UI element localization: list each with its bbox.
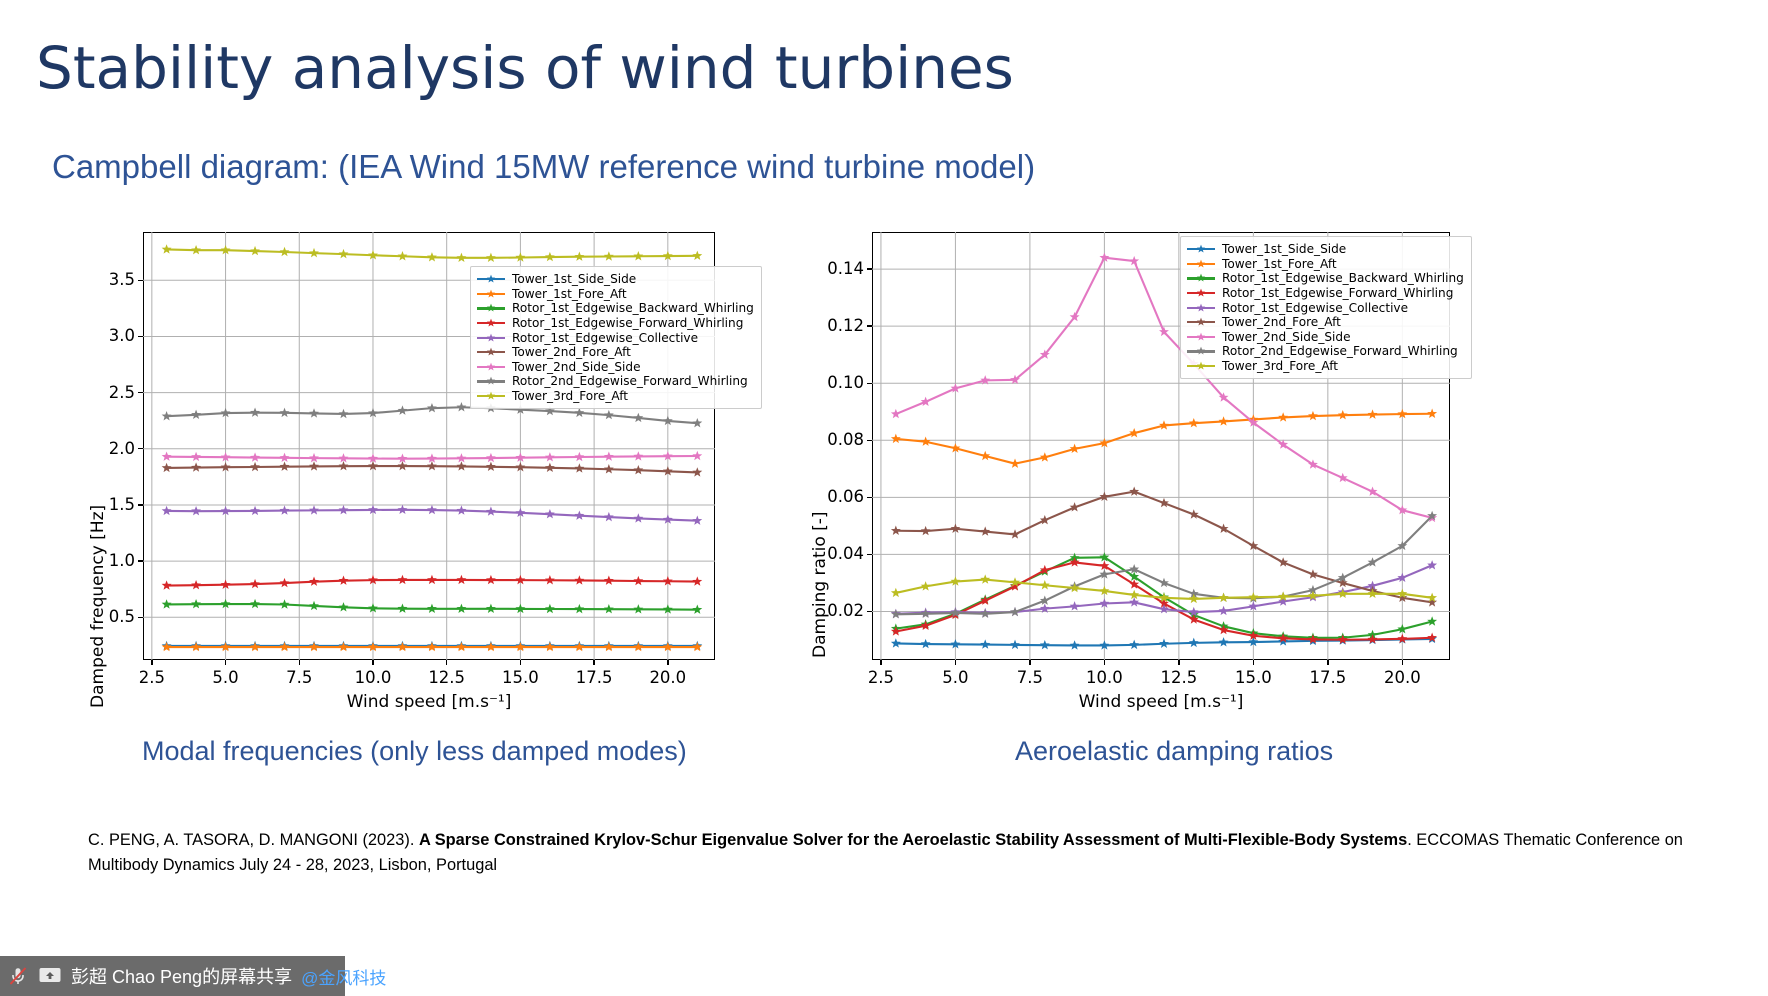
legend-swatch-icon bbox=[1187, 243, 1215, 255]
series-marker bbox=[456, 604, 466, 613]
series-marker bbox=[1219, 416, 1229, 425]
series-marker bbox=[604, 251, 614, 260]
series-marker bbox=[545, 575, 555, 584]
legend-label: Rotor_1st_Edgewise_Forward_Whirling bbox=[512, 316, 743, 330]
figure-aeroelastic-damping: Damping ratio [-] Wind speed [m.s⁻¹] Tow… bbox=[800, 228, 1490, 718]
series-marker bbox=[692, 251, 702, 260]
series-marker bbox=[162, 411, 172, 420]
legend-item[interactable]: Rotor_1st_Edgewise_Backward_Whirling bbox=[477, 301, 754, 316]
figure-0-xtick-mark bbox=[446, 660, 447, 665]
series-marker bbox=[280, 453, 290, 462]
series-marker bbox=[604, 464, 614, 473]
page-title: Stability analysis of wind turbines bbox=[36, 34, 1014, 102]
series-marker bbox=[398, 575, 408, 584]
legend-label: Tower_1st_Fore_Aft bbox=[512, 287, 627, 301]
series-marker bbox=[980, 526, 990, 535]
series-marker bbox=[891, 609, 901, 618]
series-marker bbox=[1070, 444, 1080, 453]
figure-0-ytick-label: 3.0 bbox=[47, 326, 135, 345]
figure-0-xtick-label: 20.0 bbox=[628, 668, 708, 687]
series-marker bbox=[1010, 458, 1020, 467]
legend-label: Rotor_2nd_Edgewise_Forward_Whirling bbox=[1222, 344, 1458, 358]
series-marker bbox=[486, 253, 496, 262]
legend-swatch-icon bbox=[477, 288, 505, 300]
series-marker bbox=[921, 609, 931, 618]
series-marker bbox=[309, 505, 319, 514]
legend-item[interactable]: Rotor_1st_Edgewise_Backward_Whirling bbox=[1187, 271, 1464, 286]
series-marker bbox=[427, 505, 437, 514]
series-marker bbox=[250, 407, 260, 416]
series-marker bbox=[1070, 502, 1080, 511]
series-marker bbox=[633, 513, 643, 522]
series-marker bbox=[633, 642, 643, 651]
series-marker bbox=[250, 599, 260, 608]
series-marker bbox=[1129, 428, 1139, 437]
figure-0-xtick-mark bbox=[372, 660, 373, 665]
series-marker bbox=[456, 453, 466, 462]
series-marker bbox=[545, 509, 555, 518]
legend-label: Tower_1st_Side_Side bbox=[512, 272, 636, 286]
series-marker bbox=[162, 599, 172, 608]
series-marker bbox=[398, 642, 408, 651]
series-marker bbox=[280, 408, 290, 417]
series-marker bbox=[1129, 597, 1139, 606]
series-marker bbox=[456, 253, 466, 262]
series-marker bbox=[191, 580, 201, 589]
series-marker bbox=[309, 248, 319, 257]
figure-0-xtick-label: 2.5 bbox=[112, 668, 192, 687]
series-marker bbox=[280, 461, 290, 470]
figure-0-xtick-label: 15.0 bbox=[480, 668, 560, 687]
series-marker bbox=[980, 451, 990, 460]
series-marker bbox=[280, 599, 290, 608]
series-marker bbox=[692, 642, 702, 651]
series-marker bbox=[633, 251, 643, 260]
figure-modal-frequencies: Damped frequency [Hz] Wind speed [m.s⁻¹]… bbox=[70, 228, 750, 718]
figure-1-xtick-label: 15.0 bbox=[1213, 668, 1293, 687]
series-marker bbox=[574, 604, 584, 613]
series-marker bbox=[1278, 557, 1288, 566]
reference-title: A Sparse Constrained Krylov-Schur Eigenv… bbox=[419, 831, 1407, 849]
figure-1-ytick-label: 0.14 bbox=[776, 259, 864, 278]
series-marker bbox=[1159, 578, 1169, 587]
reference-authors: C. PENG, A. TASORA, D. MANGONI (2023). bbox=[88, 831, 419, 849]
series-marker bbox=[891, 526, 901, 535]
series-marker bbox=[1338, 473, 1348, 482]
series-marker bbox=[280, 578, 290, 587]
series-marker bbox=[921, 526, 931, 535]
series-marker bbox=[980, 609, 990, 618]
series-marker bbox=[339, 642, 349, 651]
series-marker bbox=[191, 410, 201, 419]
legend-label: Rotor_1st_Edgewise_Backward_Whirling bbox=[1222, 271, 1464, 285]
series-marker bbox=[1040, 452, 1050, 461]
series-marker bbox=[339, 602, 349, 611]
series-marker bbox=[574, 252, 584, 261]
series-marker bbox=[398, 603, 408, 612]
figure-1-ytick-label: 0.12 bbox=[776, 316, 864, 335]
series-marker bbox=[574, 642, 584, 651]
legend-item[interactable]: Tower_2nd_Side_Side bbox=[477, 360, 754, 375]
series-marker bbox=[1159, 639, 1169, 648]
series-marker bbox=[191, 506, 201, 515]
series-marker bbox=[486, 506, 496, 515]
caption-left: Modal frequencies (only less damped mode… bbox=[142, 736, 687, 767]
series-marker bbox=[486, 453, 496, 462]
subtitle-rest-part: (IEA Wind 15MW reference wind turbine mo… bbox=[329, 148, 1035, 185]
figure-1-xtick-label: 5.0 bbox=[915, 668, 995, 687]
series-marker bbox=[1308, 411, 1318, 420]
series-marker bbox=[1278, 412, 1288, 421]
slide-root: Stability analysis of wind turbines Camp… bbox=[0, 0, 1768, 996]
series-marker bbox=[1129, 640, 1139, 649]
legend-label: Tower_2nd_Side_Side bbox=[1222, 330, 1351, 344]
series-marker bbox=[1010, 640, 1020, 649]
legend-item[interactable]: Tower_1st_Fore_Aft bbox=[1187, 257, 1464, 272]
figure-1-legend: Tower_1st_Side_SideTower_1st_Fore_AftRot… bbox=[1180, 236, 1472, 379]
series-marker bbox=[250, 506, 260, 515]
legend-swatch-icon bbox=[1187, 287, 1215, 299]
series-marker bbox=[545, 604, 555, 613]
series-marker bbox=[574, 510, 584, 519]
series-marker bbox=[921, 621, 931, 630]
series-marker bbox=[604, 451, 614, 460]
legend-label: Tower_2nd_Fore_Aft bbox=[1222, 315, 1341, 329]
figure-0-ytick-label: 1.5 bbox=[47, 495, 135, 514]
series-marker bbox=[250, 462, 260, 471]
series-marker bbox=[162, 506, 172, 515]
series-marker bbox=[1427, 560, 1437, 569]
figure-1-xtick-label: 2.5 bbox=[841, 668, 921, 687]
series-marker bbox=[1308, 459, 1318, 468]
series-marker bbox=[339, 505, 349, 514]
figure-1-xtick-mark bbox=[880, 660, 881, 665]
figure-1-ytick-label: 0.06 bbox=[776, 487, 864, 506]
figure-1-ytick-mark bbox=[867, 554, 872, 555]
series-marker bbox=[162, 580, 172, 589]
series-marker bbox=[486, 462, 496, 471]
series-marker bbox=[980, 574, 990, 583]
legend-swatch-icon bbox=[1187, 360, 1215, 372]
figure-1-xtick-label: 12.5 bbox=[1139, 668, 1219, 687]
microphone-muted-icon[interactable] bbox=[7, 965, 29, 987]
series-marker bbox=[1219, 606, 1229, 615]
series-marker bbox=[456, 575, 466, 584]
figure-1-xtick-label: 7.5 bbox=[990, 668, 1070, 687]
series-marker bbox=[456, 642, 466, 651]
slide-subtitle: Campbell diagram: (IEA Wind 15MW referen… bbox=[52, 148, 1035, 186]
screen-share-taskbar[interactable]: 彭超 Chao Peng的屏幕共享 @金风科技 bbox=[0, 956, 345, 996]
legend-label: Tower_2nd_Side_Side bbox=[512, 360, 641, 374]
series-marker bbox=[280, 642, 290, 651]
legend-item[interactable]: Rotor_2nd_Edgewise_Forward_Whirling bbox=[1187, 344, 1464, 359]
subtitle-bold-part: Campbell diagram: bbox=[52, 148, 329, 185]
series-marker bbox=[250, 246, 260, 255]
figure-1-xtick-label: 10.0 bbox=[1064, 668, 1144, 687]
figure-1-ytick-label: 0.10 bbox=[776, 373, 864, 392]
series-marker bbox=[339, 409, 349, 418]
figure-1-xtick-mark bbox=[1104, 660, 1105, 665]
legend-label: Rotor_1st_Edgewise_Collective bbox=[1222, 301, 1408, 315]
series-marker bbox=[980, 639, 990, 648]
caption-right: Aeroelastic damping ratios bbox=[1015, 736, 1333, 767]
figure-0-xtick-mark bbox=[225, 660, 226, 665]
series-marker bbox=[339, 575, 349, 584]
series-marker bbox=[1159, 420, 1169, 429]
series-marker bbox=[309, 408, 319, 417]
series-marker bbox=[456, 461, 466, 470]
figure-0-ytick-mark bbox=[138, 504, 143, 505]
legend-swatch-icon bbox=[477, 390, 505, 402]
series-line bbox=[896, 492, 1432, 603]
legend-label: Tower_1st_Fore_Aft bbox=[1222, 257, 1337, 271]
figure-0-ytick-label: 1.0 bbox=[47, 551, 135, 570]
legend-swatch-icon bbox=[477, 317, 505, 329]
series-marker bbox=[574, 452, 584, 461]
series-marker bbox=[604, 575, 614, 584]
series-marker bbox=[891, 638, 901, 647]
series-marker bbox=[398, 405, 408, 414]
series-marker bbox=[1338, 589, 1348, 598]
legend-item[interactable]: Tower_1st_Side_Side bbox=[477, 272, 754, 287]
series-marker bbox=[1219, 593, 1229, 602]
legend-swatch-icon bbox=[477, 273, 505, 285]
legend-label: Rotor_1st_Edgewise_Collective bbox=[512, 331, 698, 345]
reference-footer: C. PENG, A. TASORA, D. MANGONI (2023). A… bbox=[88, 828, 1718, 878]
series-marker bbox=[1070, 640, 1080, 649]
series-marker bbox=[545, 452, 555, 461]
legend-swatch-icon bbox=[477, 346, 505, 358]
legend-item[interactable]: Tower_3rd_Fore_Aft bbox=[477, 389, 754, 404]
legend-swatch-icon bbox=[477, 361, 505, 373]
figure-0-xtick-mark bbox=[520, 660, 521, 665]
figure-1-ytick-mark bbox=[867, 611, 872, 612]
figure-0-legend: Tower_1st_Side_SideTower_1st_Fore_AftRot… bbox=[470, 266, 762, 409]
series-marker bbox=[162, 451, 172, 460]
figure-1-xlabel: Wind speed [m.s⁻¹] bbox=[872, 692, 1450, 712]
series-marker bbox=[692, 467, 702, 476]
figure-1-xtick-mark bbox=[1178, 660, 1179, 665]
series-marker bbox=[191, 462, 201, 471]
series-marker bbox=[1427, 616, 1437, 625]
series-marker bbox=[339, 461, 349, 470]
figure-1-ytick-label: 0.02 bbox=[776, 601, 864, 620]
series-marker bbox=[692, 516, 702, 525]
legend-item[interactable]: Rotor_1st_Edgewise_Collective bbox=[1187, 300, 1464, 315]
series-marker bbox=[309, 642, 319, 651]
figure-1-ytick-mark bbox=[867, 440, 872, 441]
figure-1-ytick-mark bbox=[867, 268, 872, 269]
legend-label: Tower_3rd_Fore_Aft bbox=[1222, 359, 1338, 373]
series-marker bbox=[486, 575, 496, 584]
legend-item[interactable]: Tower_2nd_Side_Side bbox=[1187, 330, 1464, 345]
figure-0-ytick-mark bbox=[138, 392, 143, 393]
figure-0-ytick-mark bbox=[138, 448, 143, 449]
series-marker bbox=[1040, 595, 1050, 604]
figure-1-ytick-mark bbox=[867, 497, 872, 498]
legend-item[interactable]: Tower_2nd_Fore_Aft bbox=[477, 345, 754, 360]
figure-1-xtick-mark bbox=[955, 660, 956, 665]
legend-swatch-icon bbox=[477, 302, 505, 314]
series-marker bbox=[250, 579, 260, 588]
series-marker bbox=[633, 451, 643, 460]
figure-1-ytick-mark bbox=[867, 325, 872, 326]
legend-label: Rotor_1st_Edgewise_Forward_Whirling bbox=[1222, 286, 1453, 300]
figure-0-xtick-mark bbox=[593, 660, 594, 665]
series-marker bbox=[309, 453, 319, 462]
series-marker bbox=[1189, 418, 1199, 427]
series-marker bbox=[692, 451, 702, 460]
legend-item[interactable]: Tower_1st_Fore_Aft bbox=[477, 287, 754, 302]
series-marker bbox=[1219, 637, 1229, 646]
series-marker bbox=[309, 577, 319, 586]
figure-0-xtick-label: 12.5 bbox=[407, 668, 487, 687]
series-marker bbox=[1338, 410, 1348, 419]
series-marker bbox=[604, 642, 614, 651]
series-marker bbox=[891, 588, 901, 597]
legend-label: Rotor_1st_Edgewise_Backward_Whirling bbox=[512, 301, 754, 315]
series-marker bbox=[574, 463, 584, 472]
series-marker bbox=[891, 409, 901, 418]
series-marker bbox=[250, 642, 260, 651]
series-marker bbox=[604, 410, 614, 419]
series-marker bbox=[545, 642, 555, 651]
series-marker bbox=[1040, 580, 1050, 589]
series-marker bbox=[191, 245, 201, 254]
legend-swatch-icon bbox=[477, 332, 505, 344]
series-marker bbox=[1427, 409, 1437, 418]
series-marker bbox=[1010, 529, 1020, 538]
series-marker bbox=[633, 413, 643, 422]
figure-0-xtick-label: 17.5 bbox=[554, 668, 634, 687]
figure-1-ytick-mark bbox=[867, 383, 872, 384]
legend-item[interactable]: Tower_3rd_Fore_Aft bbox=[1187, 359, 1464, 374]
series-marker bbox=[1129, 256, 1139, 265]
series-marker bbox=[692, 418, 702, 427]
series-marker bbox=[574, 575, 584, 584]
legend-swatch-icon bbox=[1187, 316, 1215, 328]
figure-0-ytick-label: 3.5 bbox=[47, 270, 135, 289]
series-marker bbox=[1189, 638, 1199, 647]
series-marker bbox=[309, 461, 319, 470]
legend-item[interactable]: Rotor_1st_Edgewise_Collective bbox=[477, 330, 754, 345]
legend-swatch-icon bbox=[1187, 331, 1215, 343]
series-marker bbox=[633, 604, 643, 613]
series-marker bbox=[545, 463, 555, 472]
series-marker bbox=[191, 642, 201, 651]
figure-0-ytick-mark bbox=[138, 280, 143, 281]
series-marker bbox=[692, 576, 702, 585]
figure-0-ytick-label: 0.5 bbox=[47, 607, 135, 626]
series-marker bbox=[1129, 486, 1139, 495]
series-marker bbox=[309, 601, 319, 610]
legend-item[interactable]: Rotor_1st_Edgewise_Forward_Whirling bbox=[477, 316, 754, 331]
series-marker bbox=[574, 408, 584, 417]
series-marker bbox=[1368, 409, 1378, 418]
series-marker bbox=[486, 642, 496, 651]
series-marker bbox=[633, 576, 643, 585]
legend-item[interactable]: Rotor_1st_Edgewise_Forward_Whirling bbox=[1187, 286, 1464, 301]
series-marker bbox=[921, 397, 931, 406]
series-marker bbox=[427, 642, 437, 651]
screen-share-label: 彭超 Chao Peng的屏幕共享 bbox=[71, 963, 292, 989]
series-marker bbox=[280, 505, 290, 514]
screen-share-watermark: @金风科技 bbox=[301, 964, 386, 989]
series-marker bbox=[1070, 601, 1080, 610]
legend-swatch-icon bbox=[477, 375, 505, 387]
figure-0-xtick-label: 5.0 bbox=[186, 668, 266, 687]
series-marker bbox=[191, 599, 201, 608]
legend-item[interactable]: Rotor_2nd_Edgewise_Forward_Whirling bbox=[477, 374, 754, 389]
series-marker bbox=[633, 465, 643, 474]
series-marker bbox=[1040, 640, 1050, 649]
series-marker bbox=[545, 252, 555, 261]
legend-label: Tower_3rd_Fore_Aft bbox=[512, 389, 628, 403]
figure-0-xtick-mark bbox=[151, 660, 152, 665]
series-marker bbox=[427, 575, 437, 584]
series-marker bbox=[162, 463, 172, 472]
legend-swatch-icon bbox=[1187, 302, 1215, 314]
figure-1-ytick-label: 0.08 bbox=[776, 430, 864, 449]
figure-0-xtick-label: 10.0 bbox=[333, 668, 413, 687]
figure-0-ytick-mark bbox=[138, 617, 143, 618]
figure-1-xtick-mark bbox=[1402, 660, 1403, 665]
series-marker bbox=[427, 252, 437, 261]
series-marker bbox=[692, 604, 702, 613]
legend-swatch-icon bbox=[1187, 345, 1215, 357]
figure-0-ytick-label: 2.5 bbox=[47, 383, 135, 402]
series-marker bbox=[1308, 569, 1318, 578]
series-marker bbox=[398, 251, 408, 260]
series-marker bbox=[427, 604, 437, 613]
figure-0-xtick-mark bbox=[667, 660, 668, 665]
legend-item[interactable]: Tower_1st_Side_Side bbox=[1187, 242, 1464, 257]
screen-share-icon[interactable] bbox=[38, 966, 62, 986]
series-marker bbox=[398, 505, 408, 514]
series-marker bbox=[921, 639, 931, 648]
legend-swatch-icon bbox=[1187, 272, 1215, 284]
series-marker bbox=[921, 581, 931, 590]
figure-1-ytick-label: 0.04 bbox=[776, 544, 864, 563]
series-marker bbox=[162, 244, 172, 253]
legend-label: Tower_1st_Side_Side bbox=[1222, 242, 1346, 256]
figure-0-xtick-mark bbox=[299, 660, 300, 665]
series-marker bbox=[604, 512, 614, 521]
legend-label: Tower_2nd_Fore_Aft bbox=[512, 345, 631, 359]
series-marker bbox=[427, 403, 437, 412]
legend-swatch-icon bbox=[1187, 258, 1215, 270]
series-marker bbox=[1010, 607, 1020, 616]
series-marker bbox=[486, 604, 496, 613]
legend-item[interactable]: Tower_2nd_Fore_Aft bbox=[1187, 315, 1464, 330]
series-marker bbox=[456, 505, 466, 514]
series-marker bbox=[250, 452, 260, 461]
figure-0-xtick-label: 7.5 bbox=[259, 668, 339, 687]
figure-1-xtick-mark bbox=[1253, 660, 1254, 665]
series-marker bbox=[456, 402, 466, 411]
series-marker bbox=[891, 434, 901, 443]
series-marker bbox=[398, 461, 408, 470]
figure-0-ytick-mark bbox=[138, 336, 143, 337]
series-marker bbox=[162, 642, 172, 651]
legend-label: Rotor_2nd_Edgewise_Forward_Whirling bbox=[512, 374, 748, 388]
series-marker bbox=[604, 604, 614, 613]
figure-0-ytick-label: 2.0 bbox=[47, 439, 135, 458]
figure-0-ytick-mark bbox=[138, 560, 143, 561]
figure-0-xlabel: Wind speed [m.s⁻¹] bbox=[143, 692, 715, 712]
series-marker bbox=[1159, 498, 1169, 507]
figure-1-xtick-label: 20.0 bbox=[1362, 668, 1442, 687]
